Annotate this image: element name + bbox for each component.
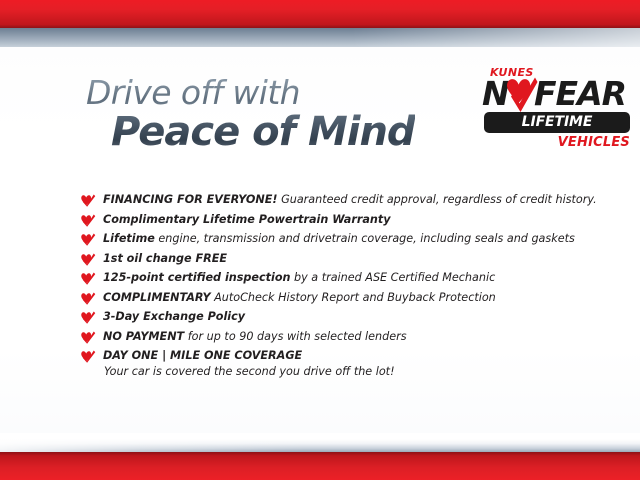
list-item: 3-Day Exchange Policy bbox=[80, 310, 620, 324]
bottom-red-band bbox=[0, 452, 640, 480]
list-item: Complimentary Lifetime Powertrain Warran… bbox=[80, 213, 620, 227]
list-item-strong: 3-Day Exchange Policy bbox=[103, 310, 245, 323]
red-heart-check-icon bbox=[80, 350, 96, 363]
red-heart-check-icon bbox=[80, 253, 96, 266]
list-item-normal: by a trained ASE Certified Mechanic bbox=[290, 271, 495, 284]
red-heart-check-icon bbox=[80, 292, 96, 305]
logo-vehicles-text: VEHICLES bbox=[558, 135, 630, 150]
list-item: Lifetime engine, transmission and drivet… bbox=[80, 232, 620, 246]
logo-nofear-wordmark: N FEAR bbox=[482, 78, 632, 110]
list-item-normal: Guaranteed credit approval, regardless o… bbox=[278, 193, 597, 206]
logo-certified-bar: LIFETIME CERTIFIED bbox=[484, 112, 630, 133]
list-item-strong: 125-point certified inspection bbox=[103, 271, 290, 284]
list-item-subtext: Your car is covered the second you drive… bbox=[103, 365, 620, 379]
list-item-strong: 1st oil change FREE bbox=[103, 252, 227, 265]
headline: Drive off with Peace of Mind bbox=[86, 76, 415, 152]
bottom-silver-band-highlight bbox=[0, 439, 640, 452]
list-item-strong: COMPLIMENTARY bbox=[103, 291, 211, 304]
list-item: COMPLIMENTARY AutoCheck History Report a… bbox=[80, 291, 620, 305]
headline-line-1: Drive off with bbox=[86, 76, 415, 109]
red-heart-check-icon bbox=[80, 311, 96, 324]
list-item-strong: Complimentary Lifetime Powertrain Warran… bbox=[103, 213, 391, 226]
logo-heart-check-icon bbox=[504, 76, 538, 114]
red-heart-check-icon bbox=[80, 272, 96, 285]
list-item-normal: AutoCheck History Report and Buyback Pro… bbox=[211, 291, 496, 304]
list-item-normal: engine, transmission and drivetrain cove… bbox=[155, 232, 575, 245]
list-item-strong: NO PAYMENT bbox=[103, 330, 184, 343]
list-item-normal: for up to 90 days with selected lenders bbox=[184, 330, 406, 343]
top-silver-band-highlight bbox=[0, 28, 640, 47]
kunes-no-fear-logo: KUNES N FEAR LIFETIME CERTIFIED VEHICLES bbox=[482, 66, 632, 154]
logo-word-fear: FEAR bbox=[534, 78, 626, 110]
top-red-band bbox=[0, 0, 640, 28]
red-heart-check-icon bbox=[80, 331, 96, 344]
list-item: 125-point certified inspection by a trai… bbox=[80, 271, 620, 285]
headline-line-2: Peace of Mind bbox=[111, 112, 415, 152]
list-item: NO PAYMENT for up to 90 days with select… bbox=[80, 330, 620, 344]
list-item: FINANCING FOR EVERYONE! Guaranteed credi… bbox=[80, 193, 620, 207]
advertisement-banner: Drive off with Peace of Mind KUNES N FEA… bbox=[0, 0, 640, 480]
list-item-strong: Lifetime bbox=[103, 232, 155, 245]
benefits-list: FINANCING FOR EVERYONE! Guaranteed credi… bbox=[80, 193, 620, 385]
red-heart-check-icon bbox=[80, 233, 96, 246]
list-item-strong: DAY ONE | MILE ONE COVERAGE bbox=[103, 349, 302, 362]
list-item-strong: FINANCING FOR EVERYONE! bbox=[103, 193, 278, 206]
list-item: 1st oil change FREE bbox=[80, 252, 620, 266]
red-heart-check-icon bbox=[80, 214, 96, 227]
red-heart-check-icon bbox=[80, 194, 96, 207]
list-item: DAY ONE | MILE ONE COVERAGE Your car is … bbox=[80, 349, 620, 379]
